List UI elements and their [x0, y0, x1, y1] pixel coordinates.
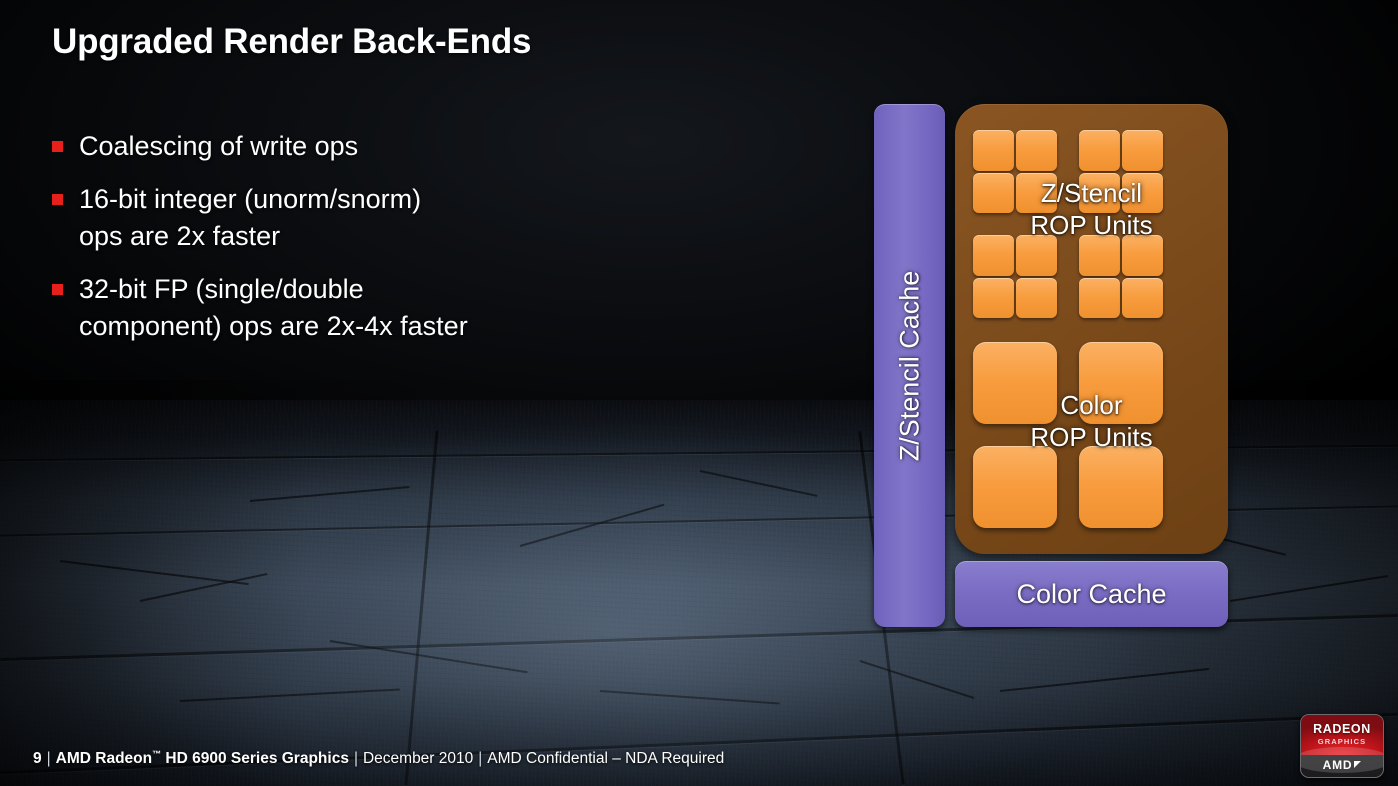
- rop-unit: [973, 173, 1014, 214]
- rop-unit: [1079, 130, 1120, 171]
- bullet-text: Coalescing of write ops: [79, 128, 358, 166]
- color-rop-unit-grid: [973, 342, 1163, 528]
- red-square-bullet-icon: [52, 194, 63, 205]
- footer-separator: |: [354, 750, 358, 767]
- rop-unit: [1016, 130, 1057, 171]
- rop-unit: [973, 446, 1057, 528]
- rop-unit: [1016, 173, 1057, 214]
- footer-page-number: 9: [33, 750, 42, 767]
- rop-unit: [1016, 278, 1057, 319]
- rop-unit-cluster: [973, 130, 1057, 213]
- list-item: 32-bit FP (single/double component) ops …: [52, 271, 652, 346]
- logo-company-label: AMD: [1323, 758, 1353, 772]
- rop-unit-cluster: [1079, 235, 1163, 318]
- logo-subbrand-text: GRAPHICS: [1301, 737, 1383, 746]
- logo-brand-text: RADEON: [1301, 722, 1383, 736]
- rop-panel: Z/Stencil ROP Units Color ROP Units: [955, 104, 1228, 554]
- bullet-text: 32-bit FP (single/double component) ops …: [79, 271, 468, 346]
- footer-date: December 2010: [363, 750, 473, 767]
- amd-arrow-icon: [1354, 761, 1361, 768]
- z-stencil-cache-block: Z/Stencil Cache: [874, 104, 945, 627]
- rop-unit: [1079, 278, 1120, 319]
- rop-unit: [973, 235, 1014, 276]
- footer-confidentiality: AMD Confidential – NDA Required: [487, 750, 724, 767]
- rop-unit: [1122, 130, 1163, 171]
- rop-unit: [1122, 235, 1163, 276]
- rop-unit: [1016, 235, 1057, 276]
- logo-company-text: AMD: [1301, 758, 1383, 772]
- page-title: Upgraded Render Back-Ends: [52, 22, 531, 62]
- presentation-slide: Upgraded Render Back-Ends Coalescing of …: [0, 0, 1398, 786]
- radeon-graphics-logo: RADEON GRAPHICS AMD: [1300, 714, 1384, 778]
- render-backend-diagram: Z/Stencil ROP Units Color ROP Units Colo…: [874, 104, 1234, 634]
- footer-product: AMD Radeon: [56, 750, 152, 767]
- rop-unit-cluster: [973, 235, 1057, 318]
- footer-separator: |: [47, 750, 51, 767]
- rop-unit: [1079, 342, 1163, 424]
- list-item: 16-bit integer (unorm/snorm) ops are 2x …: [52, 181, 652, 256]
- color-cache-block: Color Cache: [955, 561, 1228, 627]
- rop-unit: [1079, 235, 1120, 276]
- z-stencil-rop-unit-grid: [973, 130, 1163, 318]
- bullet-list: Coalescing of write ops 16-bit integer (…: [52, 128, 652, 361]
- bullet-text: 16-bit integer (unorm/snorm) ops are 2x …: [79, 181, 421, 256]
- rop-unit-cluster: [1079, 130, 1163, 213]
- rop-unit: [973, 278, 1014, 319]
- rop-unit: [1122, 278, 1163, 319]
- footer-separator: |: [478, 750, 482, 767]
- footer-product-suffix: HD 6900 Series Graphics: [161, 750, 349, 767]
- red-square-bullet-icon: [52, 141, 63, 152]
- rop-unit: [1079, 446, 1163, 528]
- footer-trademark-icon: ™: [152, 749, 161, 759]
- red-square-bullet-icon: [52, 284, 63, 295]
- color-cache-label: Color Cache: [1016, 579, 1166, 610]
- z-stencil-cache-label: Z/Stencil Cache: [894, 270, 925, 461]
- rop-unit: [1122, 173, 1163, 214]
- rop-unit: [1079, 173, 1120, 214]
- rop-unit: [973, 130, 1014, 171]
- rop-unit: [973, 342, 1057, 424]
- list-item: Coalescing of write ops: [52, 128, 652, 166]
- footer: 9|AMD Radeon™ HD 6900 Series Graphics|De…: [33, 749, 724, 768]
